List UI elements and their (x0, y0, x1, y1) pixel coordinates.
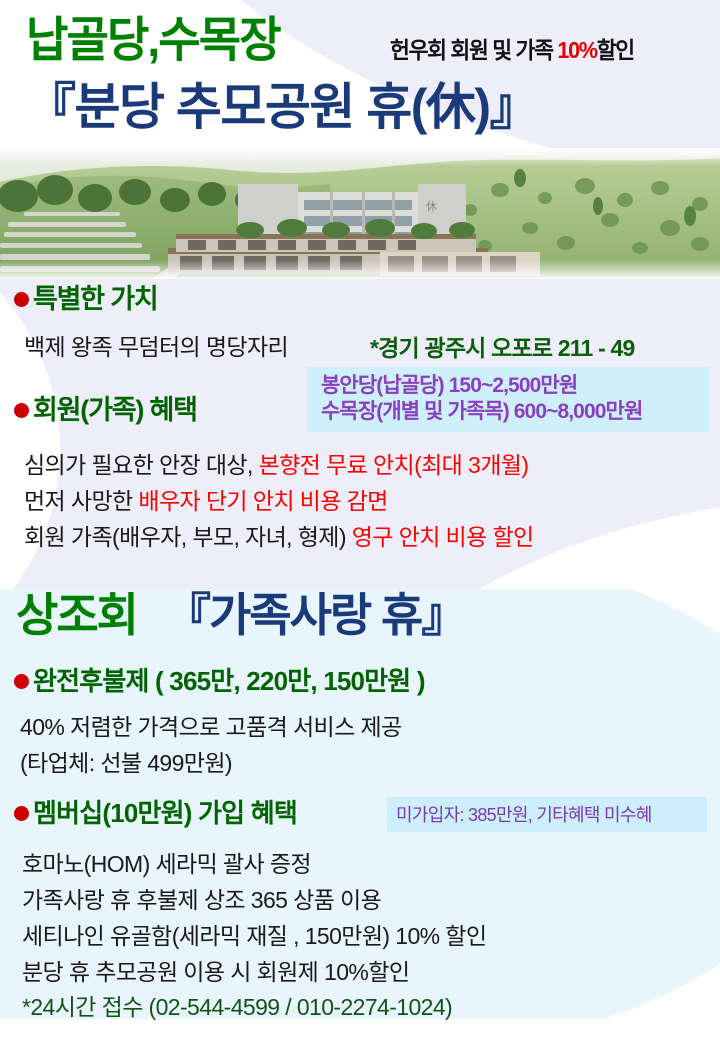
membership-line-3: 세티나인 유골함(세라믹 재질 , 150만원) 10% 할인 (22, 917, 486, 951)
discount-prefix: 헌우회 회원 및 가족 (390, 37, 557, 63)
poster-title-sub: 『분당 추모공원 휴(休)』 (26, 82, 538, 132)
heading-member-benefits: 회원(가족) 혜택 (14, 397, 197, 424)
member-benefit-2-plain: 먼저 사망한 (24, 488, 138, 514)
bullet-dot-icon (14, 403, 29, 418)
sangjo-title-row: 상조회 『가족사랑 휴』 (16, 592, 465, 638)
member-benefit-1-plain: 심의가 필요한 안장 대상, (24, 452, 259, 478)
membership-line-2: 가족사랑 휴 후불제 상조 365 상품 이용 (22, 881, 381, 915)
bullet-dot-icon (14, 674, 29, 689)
membership-line-1: 호마노(HOM) 세라믹 괄사 증정 (22, 845, 311, 879)
contact-line: *24시간 접수 (02-544-4599 / 010-2274-1024) (22, 988, 452, 1022)
heading-member-benefits-label: 회원(가족) 혜택 (33, 397, 197, 424)
discount-percent: 10% (557, 37, 596, 63)
discount-badge: 헌우회 회원 및 가족 10%할인 (390, 31, 634, 65)
member-benefit-line-3: 회원 가족(배우자, 부모, 자녀, 형제) 영구 안치 비용 할인 (24, 518, 534, 552)
heading-special-value: 특별한 가치 (14, 286, 158, 313)
member-benefit-1-red: 본향전 무료 안치(최대 3개월) (259, 452, 529, 478)
heading-special-value-label: 특별한 가치 (33, 286, 158, 313)
park-address: *경기 광주시 오포로 211 - 49 (370, 329, 635, 363)
heading-membership-label: 멤버십(10만원) 가입 혜택 (33, 800, 297, 826)
sangjo-line-1: 40% 저렴한 가격으로 고품격 서비스 제공 (20, 708, 402, 742)
heading-membership: 멤버십(10만원) 가입 혜택 (14, 800, 297, 826)
member-benefit-line-1: 심의가 필요한 안장 대상, 본향전 무료 안치(최대 3개월) (24, 446, 528, 480)
sangjo-line-2: (타업체: 선불 499만원) (20, 744, 232, 778)
membership-line-4: 분당 휴 추모공원 이용 시 회원제 10%할인 (22, 953, 409, 987)
sangjo-title-blue: 『가족사랑 휴』 (165, 592, 465, 638)
poster-title-main: 납골당,수목장 (26, 17, 280, 65)
heading-full-postpay-label: 완전후불제 ( 365만, 220만, 150만원 ) (33, 668, 425, 694)
member-benefit-line-2: 먼저 사망한 배우자 단기 안치 비용 감면 (24, 482, 388, 516)
price-line-columbarium: 봉안당(납골당) 150~2,500만원 (321, 373, 699, 399)
heading-full-postpay: 완전후불제 ( 365만, 220만, 150만원 ) (14, 668, 425, 694)
discount-suffix: 할인 (597, 37, 634, 63)
special-value-line: 백제 왕족 무덤터의 명당자리 (24, 328, 288, 362)
poster-title-main-row: 납골당,수목장 (26, 17, 290, 65)
price-box: 봉안당(납골당) 150~2,500만원 수목장(개별 및 가족목) 600~8… (307, 367, 709, 432)
member-benefit-3-plain: 회원 가족(배우자, 부모, 자녀, 형제) (24, 524, 352, 550)
price-line-treeburial: 수목장(개별 및 가족목) 600~8,000만원 (321, 399, 699, 425)
bullet-dot-icon (14, 292, 29, 307)
member-benefit-2-red: 배우자 단기 안치 비용 감면 (138, 488, 387, 514)
sangjo-title-green: 상조회 (16, 592, 137, 638)
bullet-dot-icon (14, 806, 29, 821)
member-benefit-3-red: 영구 안치 비용 할인 (352, 524, 534, 550)
poster-root: 休 (0, 0, 720, 1040)
poster-content: 납골당,수목장 헌우회 회원 및 가족 10%할인 『분당 추모공원 휴(休)』… (0, 0, 720, 1040)
membership-note-box: 미가입자: 385만원, 기타혜택 미수혜 (387, 797, 707, 832)
